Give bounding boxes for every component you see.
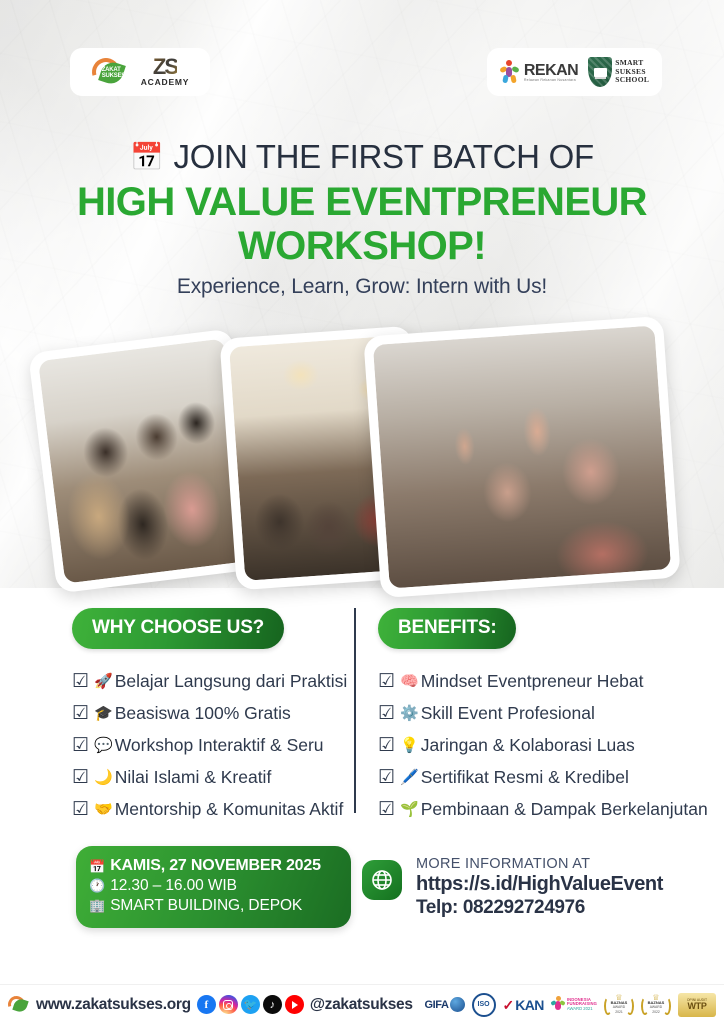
- benefits-list: ☑ 🧠 Mindset Eventpreneur Hebat ☑ ⚙️ Skil…: [378, 667, 708, 823]
- gifa-badge: GIFA: [424, 992, 464, 1018]
- list-item-label: Pembinaan & Dampak Berkelanjutan: [421, 795, 708, 823]
- shield-book-icon: [588, 57, 612, 87]
- baznas-award-2022-badge: ♕ BAZNAS AWARD 2022: [641, 992, 671, 1018]
- instagram-icon[interactable]: [219, 995, 238, 1014]
- logo-bar-right: REKAN Relawan Rekanan Nusantara SMART SU…: [487, 48, 662, 96]
- baznas-award-2021-badge: ♕ BAZNAS AWARD 2021: [604, 992, 634, 1018]
- list-item-label: Jaringan & Kolaborasi Luas: [421, 731, 635, 759]
- calendar-icon: 📅: [130, 144, 163, 171]
- list-item-label: Mindset Eventpreneur Hebat: [421, 667, 644, 695]
- photo-gallery: [0, 318, 724, 593]
- checkbox-checked-icon: ☑: [72, 768, 89, 787]
- list-item-label: Sertifikat Resmi & Kredibel: [421, 763, 629, 791]
- list-item: ☑ 💬 Workshop Interaktif & Seru: [72, 731, 344, 759]
- speech-balloon-icon: 💬: [94, 738, 113, 753]
- list-item-label: Mentorship & Komunitas Aktif: [115, 795, 344, 823]
- checkbox-checked-icon: ☑: [378, 800, 395, 819]
- rocket-icon: 🚀: [94, 674, 113, 689]
- rekan-wordmark: REKAN: [524, 63, 578, 78]
- event-details-box: 📅 KAMIS, 27 NOVEMBER 2025 🕐 12.30 – 16.0…: [76, 846, 351, 928]
- benefits-title: BENEFITS:: [378, 608, 516, 649]
- contact-phone[interactable]: Telp: 082292724976: [416, 897, 663, 919]
- kan-badge-text: KAN: [515, 997, 544, 1013]
- checkbox-checked-icon: ☑: [72, 672, 89, 691]
- list-item-label: Workshop Interaktif & Seru: [115, 731, 324, 759]
- headline-line-1-text: JOIN THE FIRST BATCH OF: [174, 138, 594, 176]
- event-place-row: 🏢 SMART BUILDING, DEPOK: [89, 895, 351, 915]
- ifa-line3: AWARD 2021: [567, 1007, 597, 1012]
- event-place: SMART BUILDING, DEPOK: [110, 897, 302, 915]
- contact-block: MORE INFORMATION AT https://s.id/HighVal…: [362, 856, 663, 919]
- clock-icon: 🕐: [89, 879, 105, 892]
- zakat-sukses-footer-logo-icon: [8, 995, 32, 1015]
- event-date-row: 📅 KAMIS, 27 NOVEMBER 2025: [89, 857, 351, 875]
- list-item-label: Nilai Islami & Kreatif: [115, 763, 272, 791]
- seedling-icon: 🌱: [400, 802, 419, 817]
- zs-academy-logo: ZS ACADEMY: [141, 57, 190, 87]
- list-item-label: Skill Event Profesional: [421, 699, 595, 727]
- list-item: ☑ ⚙️ Skill Event Profesional: [378, 699, 708, 727]
- footer-bar: www.zakatsukses.org f 🐦 ♪ @zakatsukses G…: [0, 984, 724, 1024]
- event-time-row: 🕐 12.30 – 16.00 WIB: [89, 875, 351, 895]
- kan-check-icon: ✓: [503, 999, 515, 1011]
- why-choose-us-list: ☑ 🚀 Belajar Langsung dari Praktisi ☑ 🎓 B…: [72, 667, 344, 823]
- footer-social-handle[interactable]: @zakatsukses: [310, 996, 413, 1014]
- list-item: ☑ 🎓 Beasiswa 100% Gratis: [72, 699, 344, 727]
- event-time: 12.30 – 16.00 WIB: [110, 877, 237, 895]
- list-item: ☑ 🚀 Belajar Langsung dari Praktisi: [72, 667, 344, 695]
- headline-line-1: 📅 JOIN THE FIRST BATCH OF: [0, 138, 724, 176]
- benefits-column: BENEFITS: ☑ 🧠 Mindset Eventpreneur Hebat…: [378, 608, 708, 827]
- ifa-person-icon: [551, 996, 565, 1014]
- calendar-icon: 📅: [89, 860, 105, 873]
- event-url-link[interactable]: https://s.id/HighValueEvent: [416, 873, 663, 896]
- zakat-sukses-logo-icon: ZAKAT SUKSES: [91, 55, 131, 89]
- certification-badges: GIFA ISO ✓ KAN INDONESIA FUNDRAISING AWA…: [424, 992, 716, 1018]
- checkbox-checked-icon: ☑: [378, 736, 395, 755]
- list-item: ☑ 💡 Jaringan & Kolaborasi Luas: [378, 731, 708, 759]
- light-bulb-icon: 💡: [400, 738, 419, 753]
- smart-sukses-school-logo: SMART SUKSES SCHOOL: [588, 57, 649, 87]
- brain-icon: 🧠: [400, 674, 419, 689]
- handshake-icon: 🤝: [94, 802, 113, 817]
- zs-academy-monogram: ZS: [153, 57, 177, 77]
- twitter-icon[interactable]: 🐦: [241, 995, 260, 1014]
- checkbox-checked-icon: ☑: [72, 704, 89, 723]
- headline-subtitle: Experience, Learn, Grow: Intern with Us!: [0, 275, 724, 299]
- list-item-label: Beasiswa 100% Gratis: [115, 699, 291, 727]
- footer-website[interactable]: www.zakatsukses.org: [36, 996, 191, 1014]
- globe-icon[interactable]: [362, 860, 402, 900]
- sss-line3: SCHOOL: [615, 76, 649, 85]
- pen-icon: 🖊️: [400, 770, 419, 785]
- baznas-2022-line3: 2022: [652, 1010, 660, 1015]
- more-information-label: MORE INFORMATION AT: [416, 856, 663, 872]
- gifa-globe-icon: [450, 997, 465, 1012]
- list-item: ☑ 🤝 Mentorship & Komunitas Aktif: [72, 795, 344, 823]
- youtube-icon[interactable]: [285, 995, 304, 1014]
- baznas-2021-line3: 2021: [615, 1010, 623, 1015]
- gifa-badge-text: GIFA: [424, 999, 448, 1011]
- why-choose-us-column: WHY CHOOSE US? ☑ 🚀 Belajar Langsung dari…: [72, 608, 344, 827]
- list-item: ☑ 🌙 Nilai Islami & Kreatif: [72, 763, 344, 791]
- gear-icon: ⚙️: [400, 706, 419, 721]
- checkbox-checked-icon: ☑: [72, 800, 89, 819]
- headline-line-2: HIGH VALUE EVENTPRENEUR: [0, 180, 724, 224]
- headline-line-3: WORKSHOP!: [0, 224, 724, 268]
- checkbox-checked-icon: ☑: [378, 768, 395, 787]
- kan-badge: ✓ KAN: [503, 992, 544, 1018]
- event-date: KAMIS, 27 NOVEMBER 2025: [110, 857, 321, 875]
- crescent-moon-icon: 🌙: [94, 770, 113, 785]
- tiktok-icon[interactable]: ♪: [263, 995, 282, 1014]
- poster-root: ZAKAT SUKSES ZS ACADEMY REKAN Relawan Re…: [0, 0, 724, 1024]
- list-item: ☑ 🧠 Mindset Eventpreneur Hebat: [378, 667, 708, 695]
- checkbox-checked-icon: ☑: [378, 672, 395, 691]
- photo-card-3: [363, 316, 681, 598]
- headline-block: 📅 JOIN THE FIRST BATCH OF HIGH VALUE EVE…: [0, 138, 724, 268]
- wtp-text: WTP: [687, 1002, 706, 1011]
- graduation-cap-icon: 🎓: [94, 706, 113, 721]
- rekan-people-icon: [500, 60, 520, 84]
- list-item: ☑ 🌱 Pembinaan & Dampak Berkelanjutan: [378, 795, 708, 823]
- list-item-label: Belajar Langsung dari Praktisi: [115, 667, 348, 695]
- why-choose-us-title: WHY CHOOSE US?: [72, 608, 284, 649]
- checkbox-checked-icon: ☑: [378, 704, 395, 723]
- zakat-sukses-logo-text: ZAKAT SUKSES: [102, 67, 131, 79]
- facebook-icon[interactable]: f: [197, 995, 216, 1014]
- checkbox-checked-icon: ☑: [72, 736, 89, 755]
- rekan-tagline: Relawan Rekanan Nusantara: [524, 78, 578, 82]
- wtp-badge: OPINI AUDIT WTP: [678, 993, 716, 1017]
- column-divider: [354, 608, 356, 813]
- building-icon: 🏢: [89, 899, 105, 912]
- iso-badge: ISO: [472, 993, 496, 1017]
- logo-bar-left: ZAKAT SUKSES ZS ACADEMY: [70, 48, 210, 96]
- social-icons: f 🐦 ♪: [197, 995, 304, 1014]
- indonesia-fundraising-award-badge: INDONESIA FUNDRAISING AWARD 2021: [551, 992, 597, 1018]
- rekan-logo: REKAN Relawan Rekanan Nusantara: [500, 60, 578, 84]
- zs-academy-label: ACADEMY: [141, 77, 190, 87]
- list-item: ☑ 🖊️ Sertifikat Resmi & Kredibel: [378, 763, 708, 791]
